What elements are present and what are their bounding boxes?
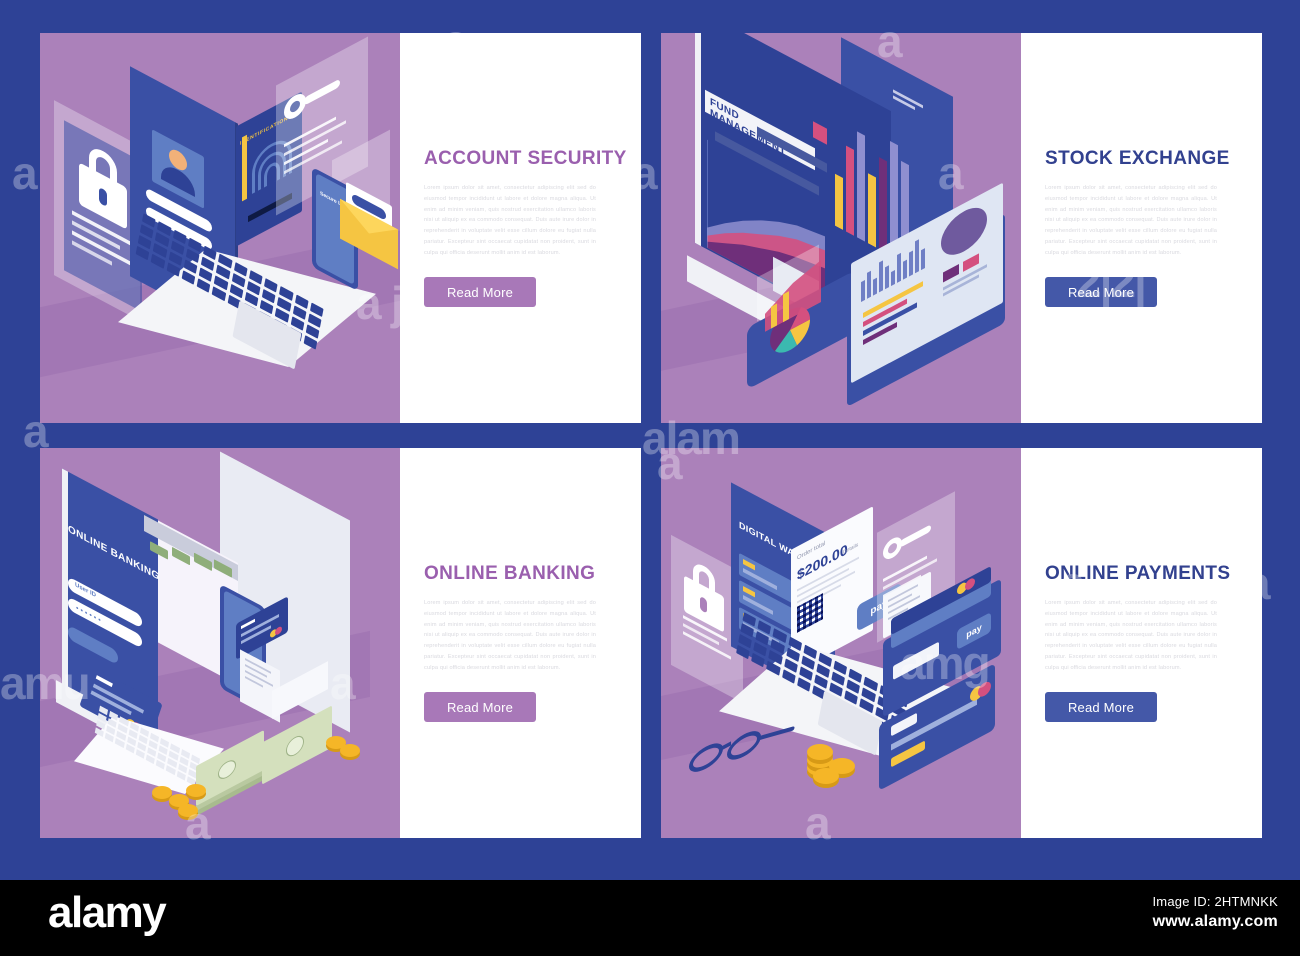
alamy-footer: alamy Image ID: 2HTMNKK www.alamy.com — [0, 880, 1300, 956]
gold-coins — [326, 732, 372, 764]
gold-coins — [152, 774, 228, 818]
card-account-security: IDENTIFICATION — [40, 33, 641, 423]
card-body: Lorem ipsum dolor sit amet, consectetur … — [1045, 183, 1217, 259]
card-stock-exchange: FUND MANAGEMENT — [661, 33, 1262, 423]
read-more-button[interactable]: Read More — [424, 692, 536, 722]
footer-credit: Image ID: 2HTMNKK www.alamy.com — [1153, 894, 1279, 931]
stock-exchange-text: STOCK EXCHANGE Lorem ipsum dolor sit ame… — [1021, 33, 1262, 423]
card-online-payments: DIGITAL WALLET — [661, 448, 1262, 838]
card-title: ONLINE BANKING — [424, 564, 619, 585]
card-title: ACCOUNT SECURITY — [424, 149, 619, 170]
website-url: www.alamy.com — [1153, 913, 1279, 931]
card-online-banking: ONLINE BANKING User ID •••••• — [40, 448, 641, 838]
cards-board: IDENTIFICATION — [0, 0, 1300, 880]
account-security-text: ACCOUNT SECURITY Lorem ipsum dolor sit a… — [400, 33, 641, 423]
alamy-logo: alamy — [48, 888, 165, 938]
read-more-button[interactable]: Read More — [1045, 692, 1157, 722]
online-banking-illustration: ONLINE BANKING User ID •••••• — [40, 448, 400, 838]
stock-exchange-illustration: FUND MANAGEMENT — [661, 33, 1021, 423]
image-id: Image ID: 2HTMNKK — [1153, 894, 1279, 909]
card-body: Lorem ipsum dolor sit amet, consectetur … — [424, 598, 596, 674]
card-title: ONLINE PAYMENTS — [1045, 564, 1240, 585]
read-more-button[interactable]: Read More — [424, 277, 536, 307]
online-payments-text: ONLINE PAYMENTS Lorem ipsum dolor sit am… — [1021, 448, 1262, 838]
gold-coins — [807, 724, 867, 784]
card-body: Lorem ipsum dolor sit amet, consectetur … — [1045, 598, 1217, 674]
card-body: Lorem ipsum dolor sit amet, consectetur … — [424, 183, 596, 259]
card-title: STOCK EXCHANGE — [1045, 149, 1240, 170]
account-security-illustration: IDENTIFICATION — [40, 33, 400, 423]
online-payments-illustration: DIGITAL WALLET — [661, 448, 1021, 838]
online-banking-text: ONLINE BANKING Lorem ipsum dolor sit ame… — [400, 448, 641, 838]
read-more-button[interactable]: Read More — [1045, 277, 1157, 307]
